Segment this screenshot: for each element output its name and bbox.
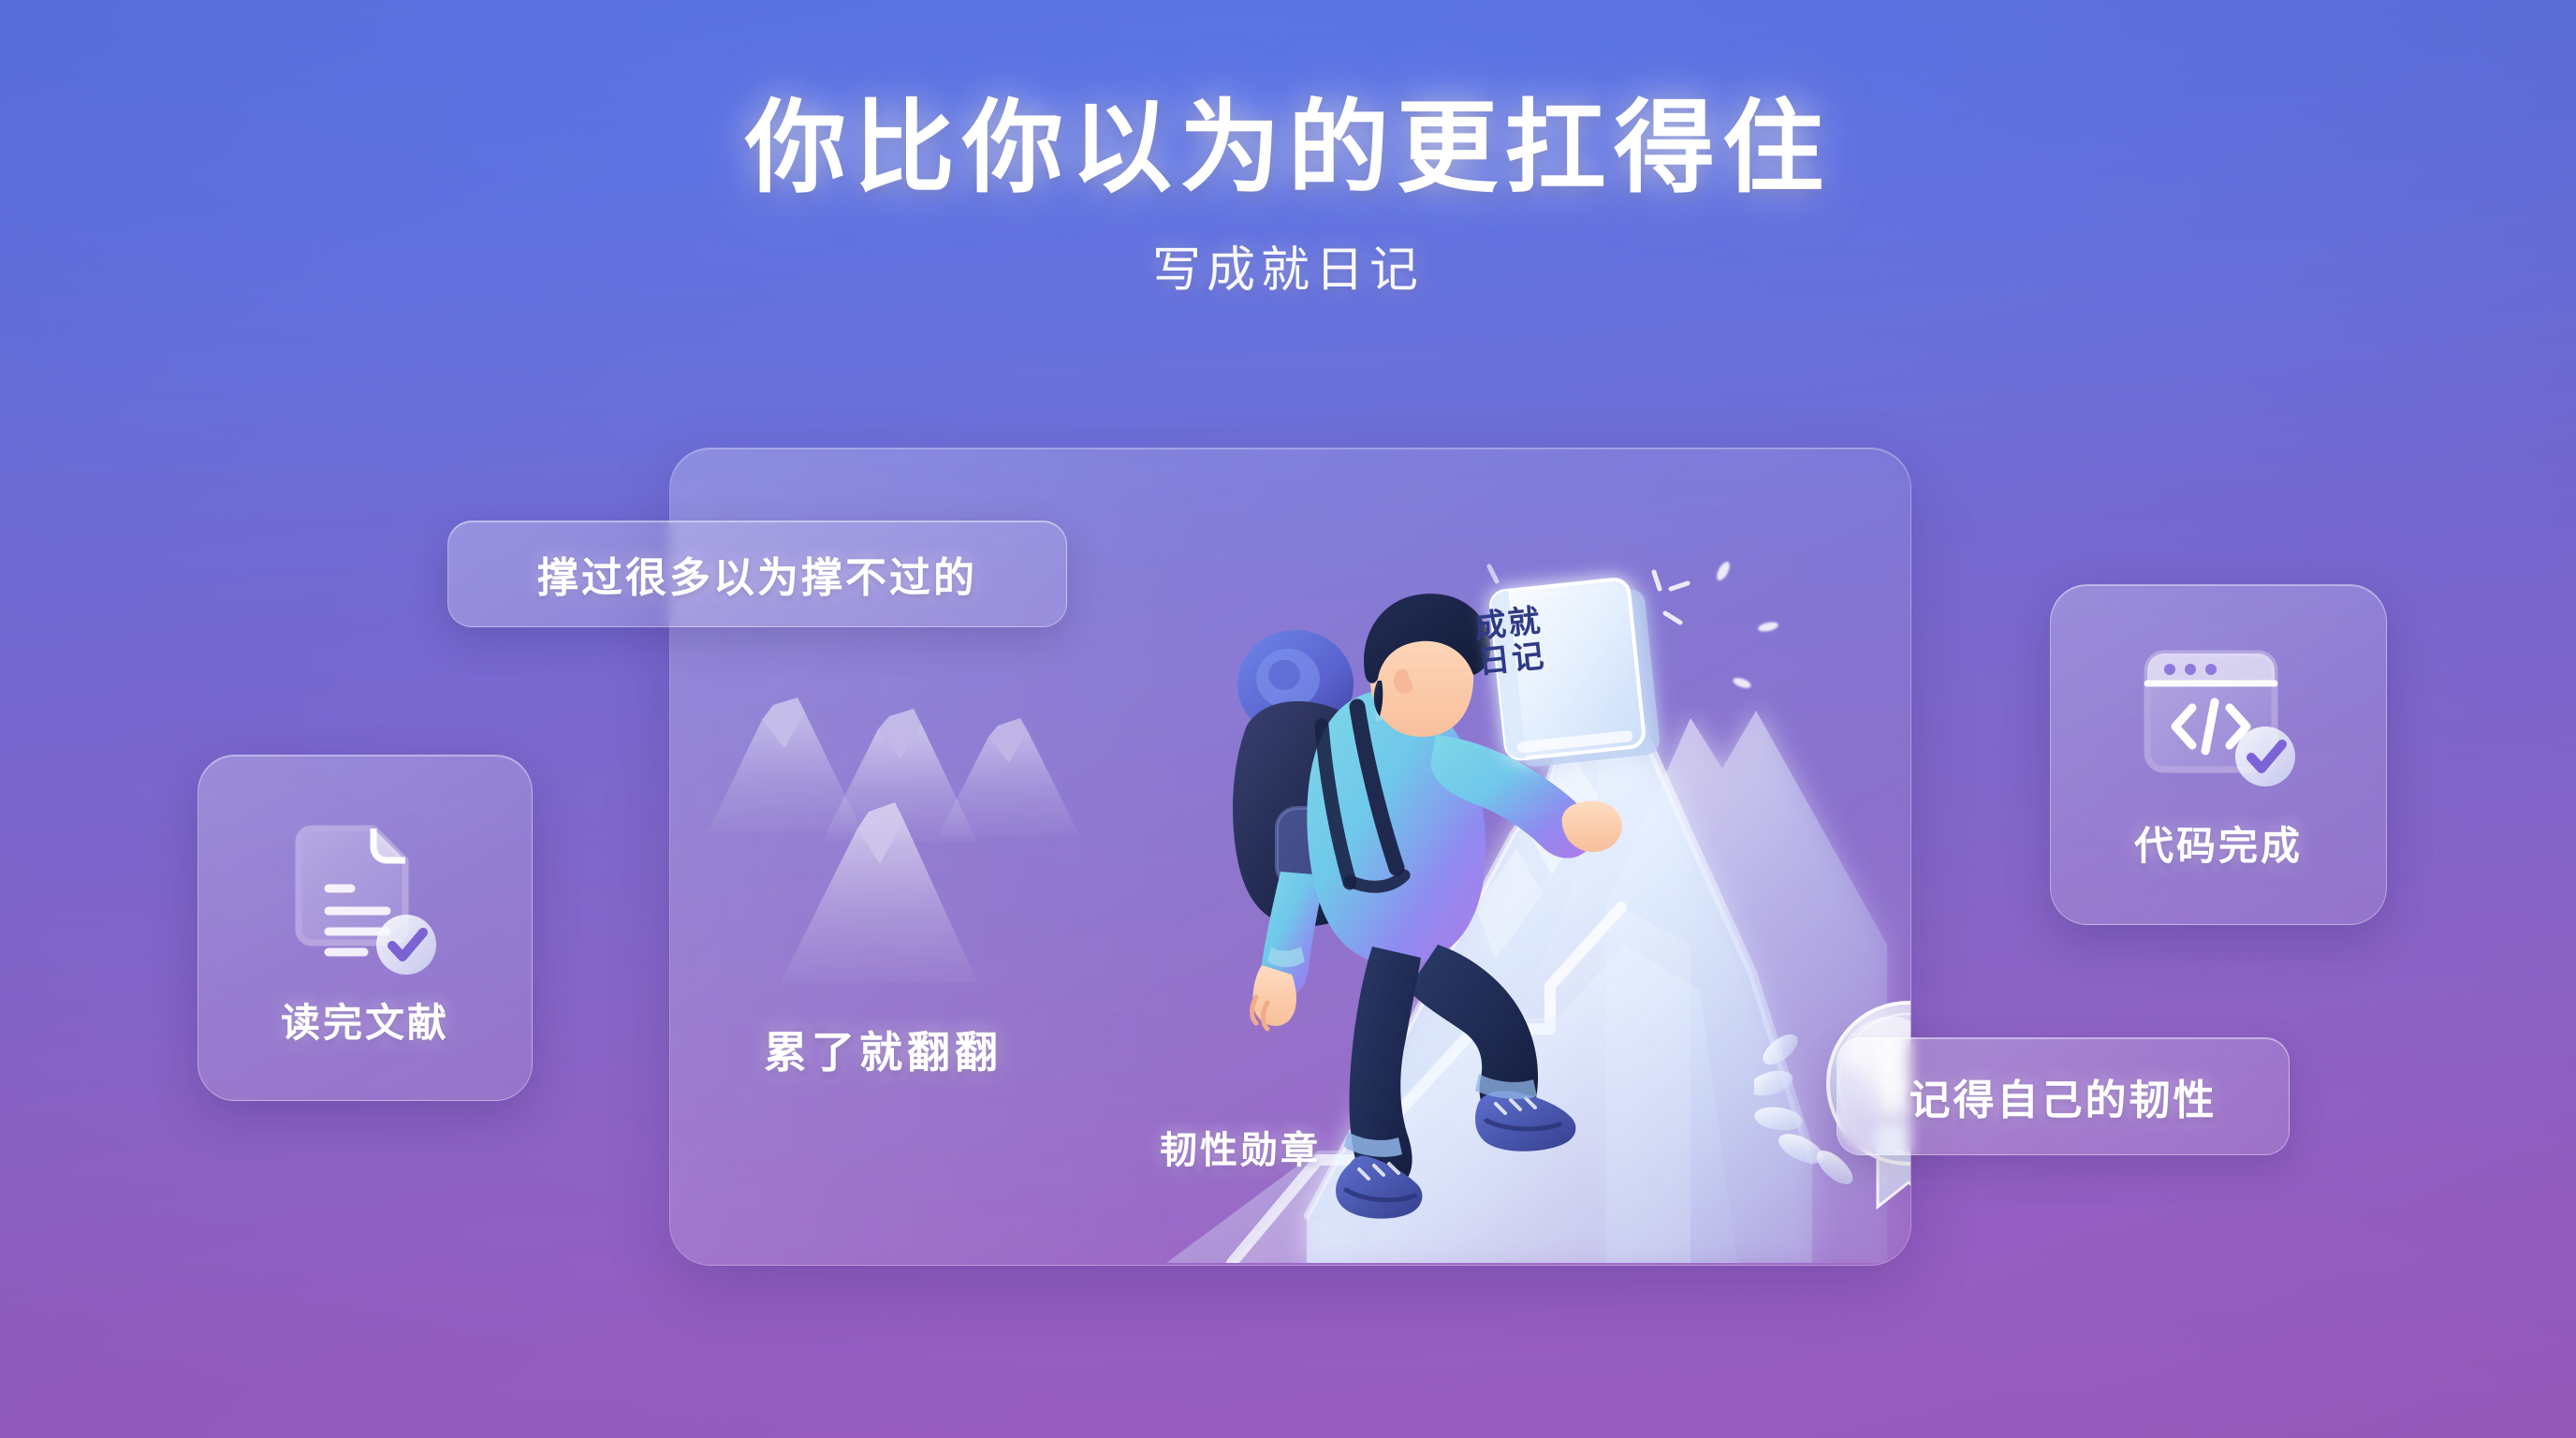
sparkle-icon [1714, 560, 1732, 582]
poster-header: 你比你以为的更扛得住 写成就日记 [0, 90, 2576, 301]
sparkle-icon [1732, 676, 1752, 690]
card-code-done[interactable]: 代码完成 [2050, 584, 2387, 925]
journal-cover-text: 成就 日记 [1472, 596, 1610, 681]
page-subtitle: 写成就日记 [0, 230, 2576, 301]
page-title: 你比你以为的更扛得住 [0, 90, 2576, 206]
hero-mountain-icon [951, 505, 1906, 1263]
pill-right-label: 记得自己的韧性 [1910, 1066, 2217, 1126]
pill-left[interactable]: 撑过很多以为撑不过的 [447, 521, 1067, 627]
panel-inner-caption: 累了就翻翻 [764, 1019, 1003, 1080]
poster-canvas: 你比你以为的更扛得住 写成就日记 [0, 0, 2576, 1438]
pill-left-label: 撑过很多以为撑不过的 [537, 544, 977, 604]
medal-label: 韧性勋章 [1100, 1120, 1381, 1174]
background-mountain-range-icon [680, 608, 1204, 1020]
sparkle-icon [1757, 621, 1778, 633]
document-check-icon [276, 808, 454, 986]
pill-right[interactable]: 记得自己的韧性 [1837, 1037, 2290, 1155]
card-read-paper-label: 读完文献 [281, 991, 449, 1049]
card-read-paper[interactable]: 读完文献 [198, 755, 533, 1101]
card-code-done-label: 代码完成 [2134, 814, 2303, 872]
code-window-check-icon [2127, 638, 2310, 809]
